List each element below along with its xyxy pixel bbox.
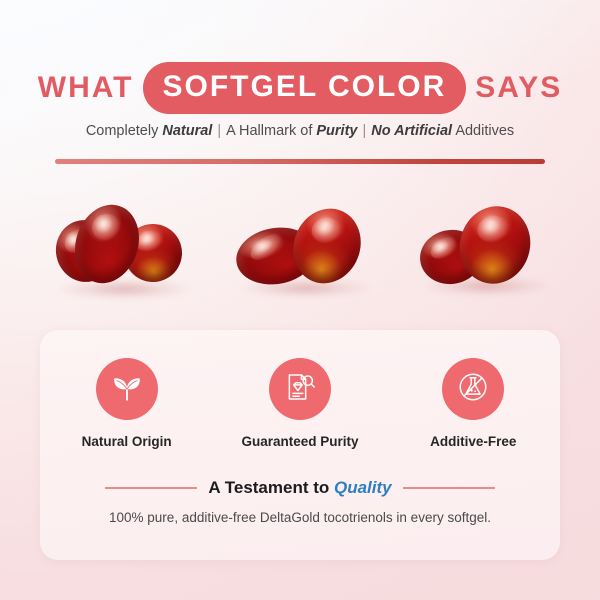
testament-text-plain: A Testament to xyxy=(208,478,334,497)
poster: WHAT SOFTGEL COLOR SAYS Completely Natur… xyxy=(0,0,600,600)
leaf-icon xyxy=(110,370,144,409)
testament-text: A Testament to Quality xyxy=(208,478,391,498)
certificate-diamond-icon xyxy=(283,370,317,409)
testament-line-left xyxy=(105,487,197,489)
subtitle-part3-plain: Additives xyxy=(452,123,514,139)
feature-label: Additive-Free xyxy=(430,434,516,449)
feature-label: Natural Origin xyxy=(82,434,172,449)
testament-headline: A Testament to Quality xyxy=(40,478,560,498)
title-word-says: SAYS xyxy=(475,73,562,103)
testament-text-highlight: Quality xyxy=(334,478,392,497)
page-title: WHAT SOFTGEL COLOR SAYS xyxy=(0,62,600,114)
feature-item-additive-free: Additive-Free xyxy=(398,358,548,449)
feature-label: Guaranteed Purity xyxy=(241,434,358,449)
subtitle-part1-plain: Completely xyxy=(86,123,163,139)
header-divider xyxy=(55,159,545,164)
feature-item-natural-origin: Natural Origin xyxy=(52,358,202,449)
feature-badge xyxy=(442,358,504,420)
trust-card: Natural Origin xyxy=(40,330,560,560)
title-word-what: WHAT xyxy=(38,73,134,103)
feature-badge xyxy=(269,358,331,420)
softgel-photo-band xyxy=(0,190,600,310)
softgel-group-center xyxy=(230,190,390,310)
feature-list: Natural Origin xyxy=(40,358,560,449)
softgel-group-right xyxy=(412,190,572,310)
feature-badge xyxy=(96,358,158,420)
subtitle-part1-emphasis: Natural xyxy=(162,123,212,139)
softgel-group-left xyxy=(48,190,208,310)
no-chemicals-flask-icon xyxy=(456,370,490,409)
subtitle-separator-1: | xyxy=(212,123,226,139)
testament-line-right xyxy=(403,487,495,489)
subtitle: Completely Natural|A Hallmark of Purity|… xyxy=(0,123,600,139)
card-note: 100% pure, additive-free DeltaGold tocot… xyxy=(40,510,560,525)
feature-item-guaranteed-purity: Guaranteed Purity xyxy=(225,358,375,449)
subtitle-part2-plain: A Hallmark of xyxy=(226,123,316,139)
softgel-shadow xyxy=(54,278,194,300)
title-pill-softgel-color: SOFTGEL COLOR xyxy=(143,62,467,114)
subtitle-part3-emphasis: No Artificial xyxy=(371,123,452,139)
subtitle-part2-emphasis: Purity xyxy=(316,123,357,139)
subtitle-separator-2: | xyxy=(357,123,371,139)
